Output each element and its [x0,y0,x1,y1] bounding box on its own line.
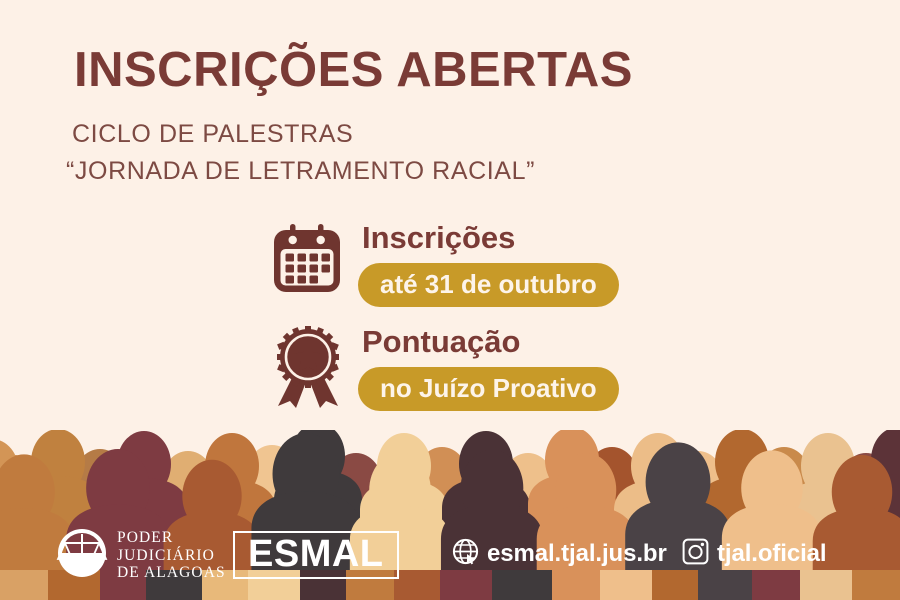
pj-line-1: PODER [117,529,226,547]
calendar-icon [272,222,342,301]
inscricoes-text-group: Inscrições até 31 de outubro [358,222,619,307]
esmal-logo-box: ESMAL [233,531,399,579]
subtitle-line-2: “JORNADA DE LETRAMENTO RACIAL” [66,157,535,186]
inscricoes-deadline-pill: até 31 de outubro [358,263,619,307]
pontuacao-label: Pontuação [362,326,619,357]
pontuacao-text-group: Pontuação no Juízo Proativo [358,326,619,411]
award-rosette-icon [272,326,344,413]
pj-line-3: DE ALAGOAS [117,564,226,582]
website-url-text[interactable]: esmal.tjal.jus.br [487,540,667,568]
instagram-link[interactable]: tjal.oficial [682,538,827,570]
instagram-handle-text[interactable]: tjal.oficial [717,540,827,568]
globe-icon [452,538,479,570]
esmal-logo: ESMAL [233,531,399,579]
inscricoes-label: Inscrições [362,222,619,253]
pontuacao-value-pill: no Juízo Proativo [358,367,619,411]
website-link[interactable]: esmal.tjal.jus.br [452,538,667,570]
esmal-wordmark: ESMAL [248,533,384,575]
scales-of-justice-icon [56,527,108,584]
instagram-icon [682,538,709,570]
poster-canvas: INSCRIÇÕES ABERTAS CICLO DE PALESTRAS “J… [0,0,900,600]
page-title: INSCRIÇÕES ABERTAS [74,46,633,96]
pj-line-2: JUDICIÁRIO [117,547,226,565]
poder-judiciario-wordmark: PODER JUDICIÁRIO DE ALAGOAS [117,529,226,582]
poder-judiciario-logo: PODER JUDICIÁRIO DE ALAGOAS [56,527,226,584]
subtitle-line-1: CICLO DE PALESTRAS [72,120,353,149]
